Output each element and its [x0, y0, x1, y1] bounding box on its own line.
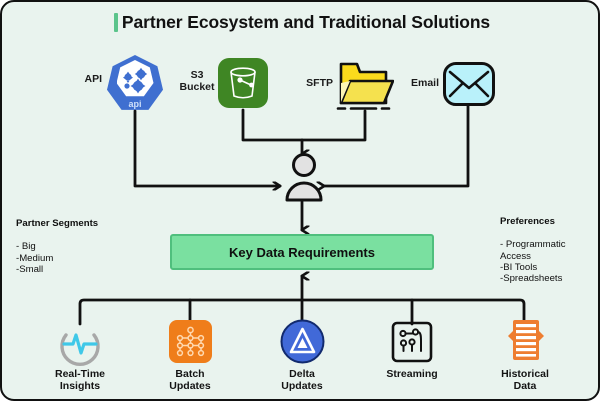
title-accent-bar — [114, 13, 118, 32]
requirement-icon-delta[interactable] — [280, 319, 325, 369]
edge-sftp-to-bus — [302, 111, 365, 140]
realtime-pulse-icon — [56, 320, 104, 373]
historical-doc-icon — [505, 318, 547, 369]
partner-segments-title: Partner Segments — [16, 218, 98, 229]
partner-segments-items: - Big -Medium -Small — [16, 241, 98, 275]
source-label-email: Email — [407, 78, 439, 90]
source-icon-s3[interactable] — [218, 58, 268, 108]
requirement-icon-batch[interactable] — [169, 320, 212, 368]
streaming-circuit-icon — [391, 321, 433, 368]
edge-s3-to-bus — [243, 110, 302, 140]
email-envelope-icon — [443, 62, 495, 106]
source-icon-api[interactable]: api — [107, 55, 163, 111]
title-text: Partner Ecosystem and Traditional Soluti… — [122, 12, 490, 33]
requirement-icon-historical[interactable] — [505, 318, 547, 369]
requirement-label-batch: Batch Updates — [135, 368, 245, 392]
requirement-icon-streaming[interactable] — [391, 321, 433, 368]
source-label-sftp: SFTP — [295, 78, 333, 90]
partner-segments-note: Partner Segments - Big -Medium -Small — [16, 207, 98, 287]
edge-api-to-person — [135, 111, 280, 186]
source-label-s3: S3 Bucket — [178, 70, 216, 93]
source-label-api: API — [60, 74, 102, 86]
key-data-requirements-box[interactable]: Key Data Requirements — [170, 234, 434, 270]
api-word-label: api — [107, 99, 163, 109]
partner-person-icon — [284, 152, 324, 209]
requirement-label-realtime: Real-Time Insights — [25, 368, 135, 392]
key-data-requirements-label: Key Data Requirements — [229, 245, 375, 260]
batch-nodes-icon — [169, 320, 212, 368]
requirement-label-delta: Delta Updates — [247, 368, 357, 392]
requirement-icon-realtime[interactable] — [56, 320, 104, 373]
api-kubernetes-icon: api — [107, 55, 163, 111]
delta-triangle-icon — [280, 319, 325, 369]
page-title: Partner Ecosystem and Traditional Soluti… — [2, 12, 600, 33]
edge-email-to-person — [324, 106, 468, 186]
s3-bucket-icon — [218, 58, 268, 108]
diagram-canvas: Partner Ecosystem and Traditional Soluti… — [0, 0, 600, 401]
preferences-note: Preferences - Programmatic Access -BI To… — [500, 205, 566, 296]
source-icon-sftp[interactable] — [336, 56, 394, 108]
requirement-label-historical: Historical Data — [470, 368, 580, 392]
source-icon-email[interactable] — [443, 62, 495, 106]
requirement-label-streaming: Streaming — [357, 368, 467, 380]
preferences-title: Preferences — [500, 216, 566, 227]
sftp-folder-icon — [336, 56, 394, 108]
preferences-items: - Programmatic Access -BI Tools -Spreads… — [500, 239, 566, 285]
